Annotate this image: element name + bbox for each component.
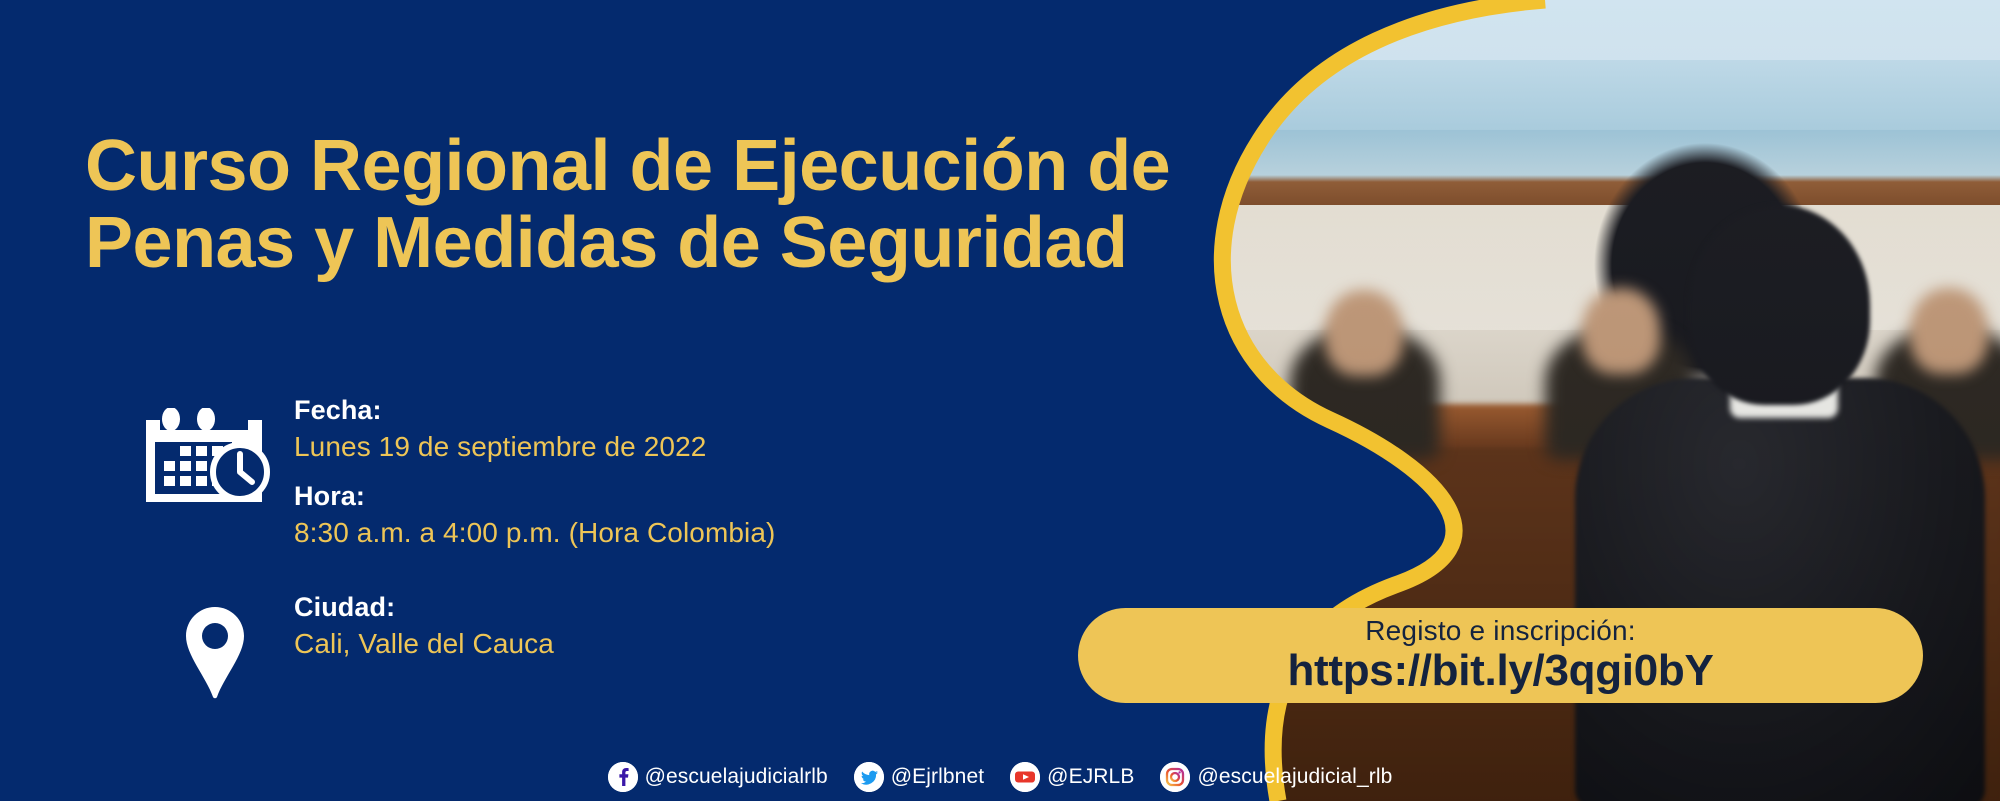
detail-label-ciudad: Ciudad: (294, 589, 1040, 625)
standing-man-body (1575, 378, 1985, 801)
judge-head-left (1325, 290, 1403, 376)
page-title-line-2: Penas y Medidas de Seguridad (85, 205, 1245, 282)
instagram-icon[interactable] (1160, 762, 1190, 792)
detail-label-hora: Hora: (294, 478, 1040, 514)
judge-robe-left (1290, 330, 1440, 460)
registration-cta[interactable]: Registo e inscripción: https://bit.ly/3q… (1078, 608, 1923, 703)
detail-value-hora: 8:30 a.m. a 4:00 p.m. (Hora Colombia) (294, 514, 1040, 552)
judge-bench-rail (1245, 404, 2000, 446)
judge-head-right (1910, 288, 1988, 374)
detail-row-date-time: Fecha: Lunes 19 de septiembre de 2022 Ho… (140, 392, 1040, 553)
page-title-line-1: Curso Regional de Ejecución de (85, 128, 1245, 205)
standing-man-head (1688, 205, 1870, 405)
social-item-instagram[interactable]: @escuelajudicial_rlb (1160, 762, 1392, 792)
judge-robe-right (1875, 330, 2000, 460)
social-handle-twitter[interactable]: @Ejrlbnet (891, 765, 984, 789)
event-banner: Curso Regional de Ejecución de Penas y M… (0, 0, 2000, 801)
social-item-facebook[interactable]: @escuelajudicialrlb (608, 762, 828, 792)
social-links: @escuelajudicialrlb @Ejrlbnet @EJRLB (0, 762, 2000, 792)
detail-value-fecha: Lunes 19 de septiembre de 2022 (294, 428, 1040, 466)
detail-text-date-time: Fecha: Lunes 19 de septiembre de 2022 Ho… (290, 392, 1040, 553)
map-pin-icon (140, 589, 290, 701)
page-title: Curso Regional de Ejecución de Penas y M… (85, 128, 1245, 282)
detail-text-city: Ciudad: Cali, Valle del Cauca (290, 589, 1040, 663)
social-handle-instagram[interactable]: @escuelajudicial_rlb (1197, 765, 1392, 789)
judge-head-center (1582, 288, 1660, 374)
facebook-icon[interactable] (608, 762, 638, 792)
social-item-youtube[interactable]: @EJRLB (1010, 762, 1134, 792)
registration-cta-heading: Registo e inscripción: (1365, 616, 1636, 645)
social-item-twitter[interactable]: @Ejrlbnet (854, 762, 984, 792)
detail-row-city: Ciudad: Cali, Valle del Cauca (140, 589, 1040, 701)
calendar-clock-icon (140, 392, 290, 512)
event-details: Fecha: Lunes 19 de septiembre de 2022 Ho… (140, 392, 1040, 701)
social-handle-facebook[interactable]: @escuelajudicialrlb (645, 765, 828, 789)
registration-cta-url[interactable]: https://bit.ly/3qgi0bY (1287, 647, 1713, 695)
youtube-icon[interactable] (1010, 762, 1040, 792)
detail-value-ciudad: Cali, Valle del Cauca (294, 625, 1040, 663)
standing-man-collar (1730, 372, 1838, 418)
judge-robe-center (1545, 330, 1695, 460)
twitter-icon[interactable] (854, 762, 884, 792)
social-handle-youtube[interactable]: @EJRLB (1047, 765, 1134, 789)
detail-label-fecha: Fecha: (294, 392, 1040, 428)
